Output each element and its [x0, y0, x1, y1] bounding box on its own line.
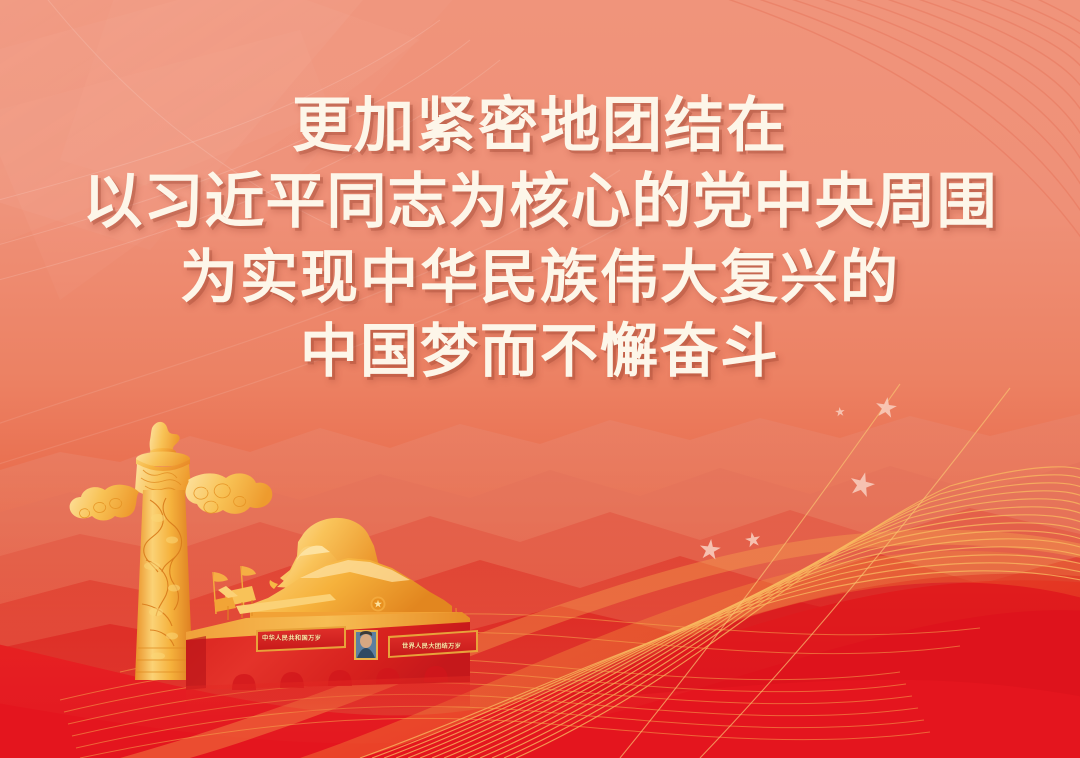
- gate-banner-left: [256, 626, 346, 652]
- tiananmen-group: [186, 518, 478, 716]
- gate-left-pavilion: [214, 586, 256, 620]
- tiananmen-gate: [0, 0, 1080, 758]
- flag-left-1: [214, 572, 228, 582]
- flag-left-2: [242, 566, 256, 576]
- mao-portrait: [354, 630, 378, 660]
- gate-wall-left-face: [186, 636, 206, 690]
- poster-canvas: 中华人民共和国万岁 世界人民大团结万岁 更加紧密地团结在 以习近平同志为核心的党…: [0, 0, 1080, 758]
- national-emblem-icon: [371, 597, 386, 612]
